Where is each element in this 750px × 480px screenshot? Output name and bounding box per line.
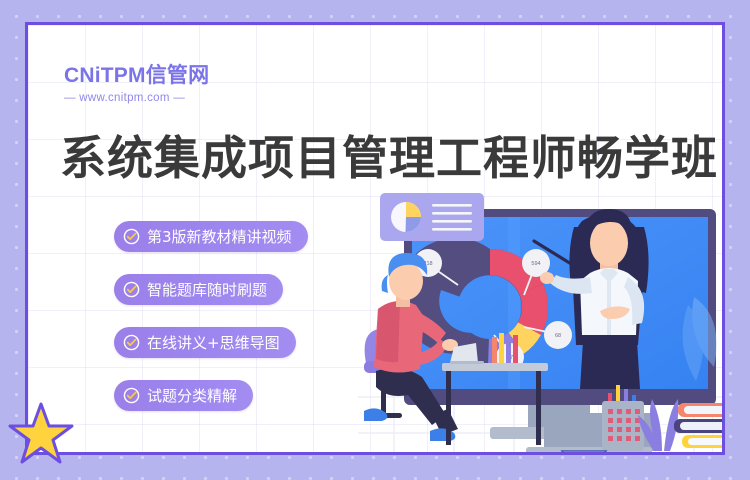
paper-sheet (562, 451, 606, 455)
feature-list: 第3版新教材精讲视频 智能题库随时刷题 在线 (114, 221, 308, 433)
book-stack (674, 403, 725, 448)
check-circle-icon (123, 281, 140, 298)
brand-name: CNiTPM信管网 (64, 65, 209, 86)
page-title: 系统集成项目管理工程师畅学班 (60, 122, 718, 188)
feature-pill-1: 第3版新教材精讲视频 (114, 221, 308, 252)
feature-label: 在线讲义+思维导图 (147, 332, 280, 353)
feature-label: 试题分类精解 (147, 385, 237, 406)
feature-pill-3: 在线讲义+思维导图 (114, 327, 296, 358)
banner-card: CNiTPM信管网 — www.cnitpm.com — 系统集成项目管理工程师… (25, 22, 725, 455)
feature-label: 第3版新教材精讲视频 (147, 226, 292, 247)
online-class-illustration: 218 594 68 67 (358, 185, 725, 455)
check-circle-icon (123, 387, 140, 404)
pie-info-card (380, 193, 484, 241)
star-icon (8, 400, 74, 464)
feature-pill-2: 智能题库随时刷题 (114, 274, 283, 305)
check-circle-icon (123, 228, 140, 245)
promo-banner: CNiTPM信管网 — www.cnitpm.com — 系统集成项目管理工程师… (0, 0, 750, 480)
donut-label-1: 594 (531, 261, 540, 267)
feature-label: 智能题库随时刷题 (147, 279, 267, 300)
donut-label-2: 68 (555, 333, 561, 339)
brand-url: — www.cnitpm.com — (64, 92, 209, 104)
brand-logo: CNiTPM信管网 — www.cnitpm.com — (64, 65, 209, 104)
feature-pill-4: 试题分类精解 (114, 380, 253, 411)
check-circle-icon (123, 334, 140, 351)
